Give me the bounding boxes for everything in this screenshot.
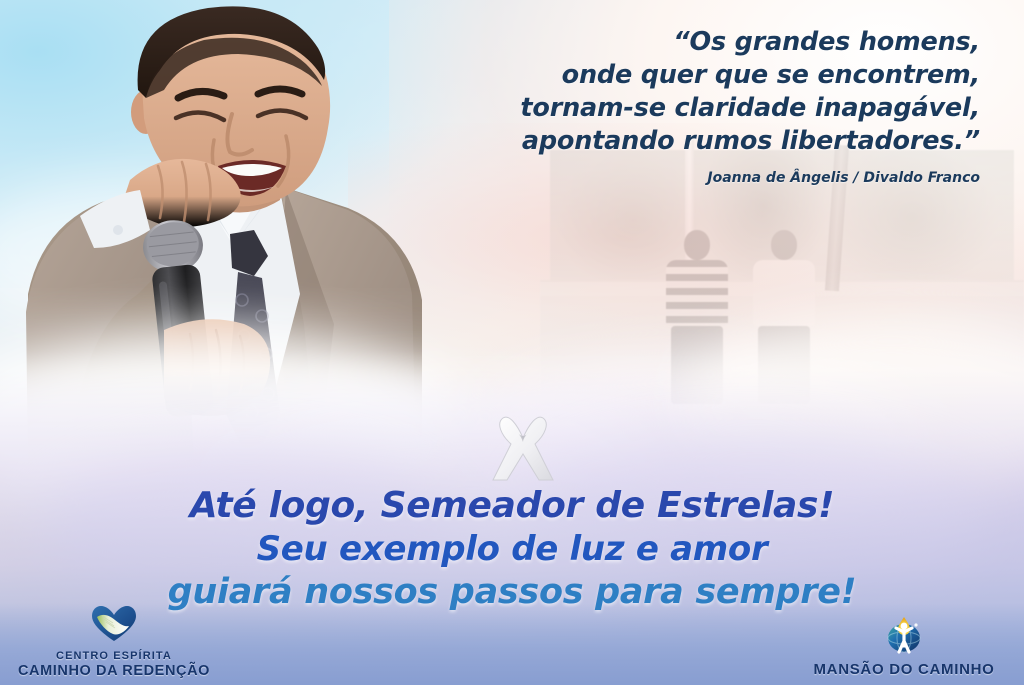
- headline-block: Até logo, Semeador de Estrelas! Seu exem…: [0, 484, 1024, 614]
- quote-line-3: tornam-se claridade inapagável,: [360, 92, 980, 125]
- memorial-poster: “Os grandes homens, onde quer que se enc…: [0, 0, 1024, 685]
- logo-left-line-2: CAMINHO DA REDENÇÃO: [14, 663, 214, 679]
- quote-line-4: apontando rumos libertadores.”: [360, 125, 980, 158]
- logo-centro-espirita-caminho-da-redencao: CENTRO ESPÍRITA CAMINHO DA REDENÇÃO: [14, 605, 214, 679]
- headline-line-1: Até logo, Semeador de Estrelas!: [0, 484, 1024, 528]
- white-mourning-ribbon-icon: [487, 408, 559, 486]
- globe-figure-flame-icon: [794, 613, 1014, 660]
- quote-line-1: “Os grandes homens,: [360, 26, 980, 59]
- heart-hands-icon: [14, 605, 214, 648]
- headline-line-2: Seu exemplo de luz e amor: [0, 528, 1024, 570]
- logo-left-text: CENTRO ESPÍRITA CAMINHO DA REDENÇÃO: [14, 650, 214, 679]
- quote-attribution: Joanna de Ângelis / Divaldo Franco: [360, 170, 980, 186]
- logo-right-line-1: MANSÃO DO CAMINHO: [794, 662, 1014, 679]
- logo-right-text: MANSÃO DO CAMINHO: [794, 662, 1014, 679]
- quote-line-2: onde quer que se encontrem,: [360, 59, 980, 92]
- quote-block: “Os grandes homens, onde quer que se enc…: [360, 26, 980, 186]
- logo-mansao-do-caminho: MANSÃO DO CAMINHO: [794, 613, 1014, 679]
- logo-left-line-1: CENTRO ESPÍRITA: [14, 650, 214, 662]
